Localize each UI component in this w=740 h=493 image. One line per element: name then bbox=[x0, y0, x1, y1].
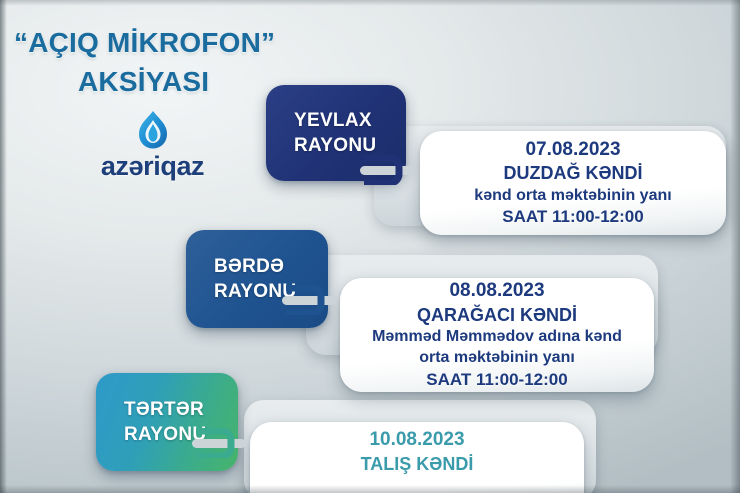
poster-canvas: “AÇIQ MİKROFON” AKSİYASI azəriqaz YEVLAX… bbox=[0, 0, 740, 493]
connector-clasp-icon bbox=[188, 428, 250, 458]
event-date: 08.08.2023 bbox=[348, 279, 646, 304]
event-card-berde[interactable]: 08.08.2023 QARAĞACI KƏNDİ Məmməd Məmmədo… bbox=[340, 278, 654, 392]
connector-clasp-icon bbox=[278, 285, 340, 315]
event-date: 07.08.2023 bbox=[430, 138, 716, 163]
gas-flame-icon bbox=[136, 110, 170, 150]
event-village: QARAĞACI KƏNDİ bbox=[348, 304, 646, 327]
event-address-line1: kənd orta məktəbinin yanı bbox=[430, 186, 716, 207]
badge-line1: TƏRTƏR bbox=[124, 397, 238, 422]
azeriqaz-logo: azəriqaz bbox=[60, 110, 245, 180]
event-date: 10.08.2023 bbox=[258, 428, 576, 453]
event-time: SAAT 11:00-12:00 bbox=[430, 206, 716, 228]
connector-clasp-icon bbox=[356, 155, 418, 185]
badge-line1: BƏRDƏ bbox=[214, 254, 328, 279]
event-address-line1: Məmməd Məmmədov adına kənd bbox=[348, 327, 646, 348]
event-village: TALIŞ KƏNDİ bbox=[258, 453, 576, 476]
event-village: DUZDAĞ KƏNDİ bbox=[430, 162, 716, 185]
event-card-terter[interactable]: 10.08.2023 TALIŞ KƏNDİ bbox=[250, 422, 584, 493]
event-card-yevlax[interactable]: 07.08.2023 DUZDAĞ KƏNDİ kənd orta məktəb… bbox=[420, 131, 726, 235]
badge-line1: YEVLAX bbox=[294, 108, 406, 133]
event-time: SAAT 11:00-12:00 bbox=[348, 369, 646, 391]
logo-wordmark: azəriqaz bbox=[60, 153, 245, 180]
page-title-line2: AKSİYASI bbox=[78, 66, 209, 98]
page-title-line1: “AÇIQ MİKROFON” bbox=[14, 27, 275, 59]
event-address-line2: orta məktəbinin yanı bbox=[348, 348, 646, 369]
